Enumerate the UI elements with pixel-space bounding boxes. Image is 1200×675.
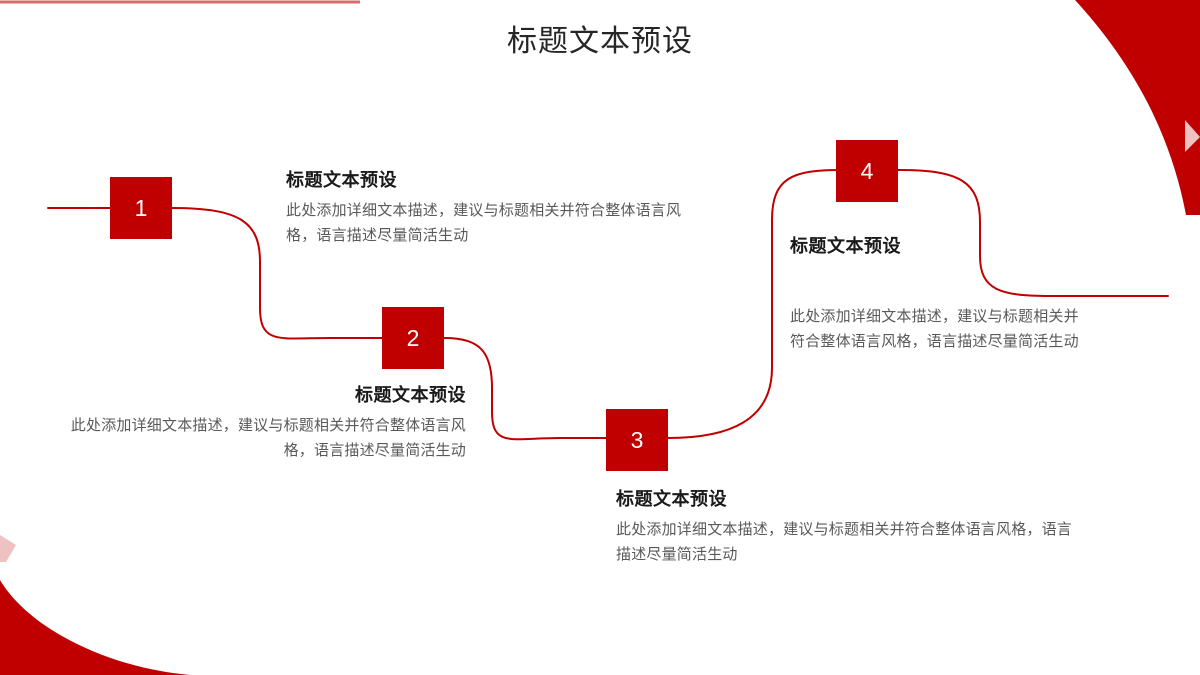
step-heading-1: 标题文本预设 <box>286 168 696 193</box>
step-text-block-2: 标题文本预设 此处添加详细文本描述，建议与标题相关并符合整体语言风格，语言描述尽… <box>56 383 466 464</box>
slide-canvas: 标题文本预设 1 2 3 4 标题文本预设 此处添加详细文本描述，建议与标题相关… <box>0 0 1200 675</box>
step-body-4: 此处添加详细文本描述，建议与标题相关并符合整体语言风格，语言描述尽量简活生动 <box>790 305 1090 355</box>
top-right-triangle-decoration <box>1185 120 1200 152</box>
step-body-3: 此处添加详细文本描述，建议与标题相关并符合整体语言风格，语言描述尽量简活生动 <box>616 518 1086 568</box>
step-heading-3: 标题文本预设 <box>616 487 1086 512</box>
step-heading-2: 标题文本预设 <box>56 383 466 408</box>
step-text-block-4: 标题文本预设 此处添加详细文本描述，建议与标题相关并符合整体语言风格，语言描述尽… <box>790 234 1090 355</box>
step-body-2: 此处添加详细文本描述，建议与标题相关并符合整体语言风格，语言描述尽量简活生动 <box>56 414 466 464</box>
step-number-4[interactable]: 4 <box>836 140 898 202</box>
step-body-1: 此处添加详细文本描述，建议与标题相关并符合整体语言风格，语言描述尽量简活生动 <box>286 199 696 249</box>
step-text-block-1: 标题文本预设 此处添加详细文本描述，建议与标题相关并符合整体语言风格，语言描述尽… <box>286 168 696 249</box>
step-text-block-3: 标题文本预设 此处添加详细文本描述，建议与标题相关并符合整体语言风格，语言描述尽… <box>616 487 1086 568</box>
bottom-left-triangle-decoration <box>0 535 16 562</box>
step-heading-4: 标题文本预设 <box>790 234 1090 259</box>
bottom-left-corner-shape <box>0 580 190 675</box>
step-number-1[interactable]: 1 <box>110 177 172 239</box>
step-number-3[interactable]: 3 <box>606 409 668 471</box>
page-title: 标题文本预设 <box>0 24 1200 60</box>
step-number-2[interactable]: 2 <box>382 307 444 369</box>
